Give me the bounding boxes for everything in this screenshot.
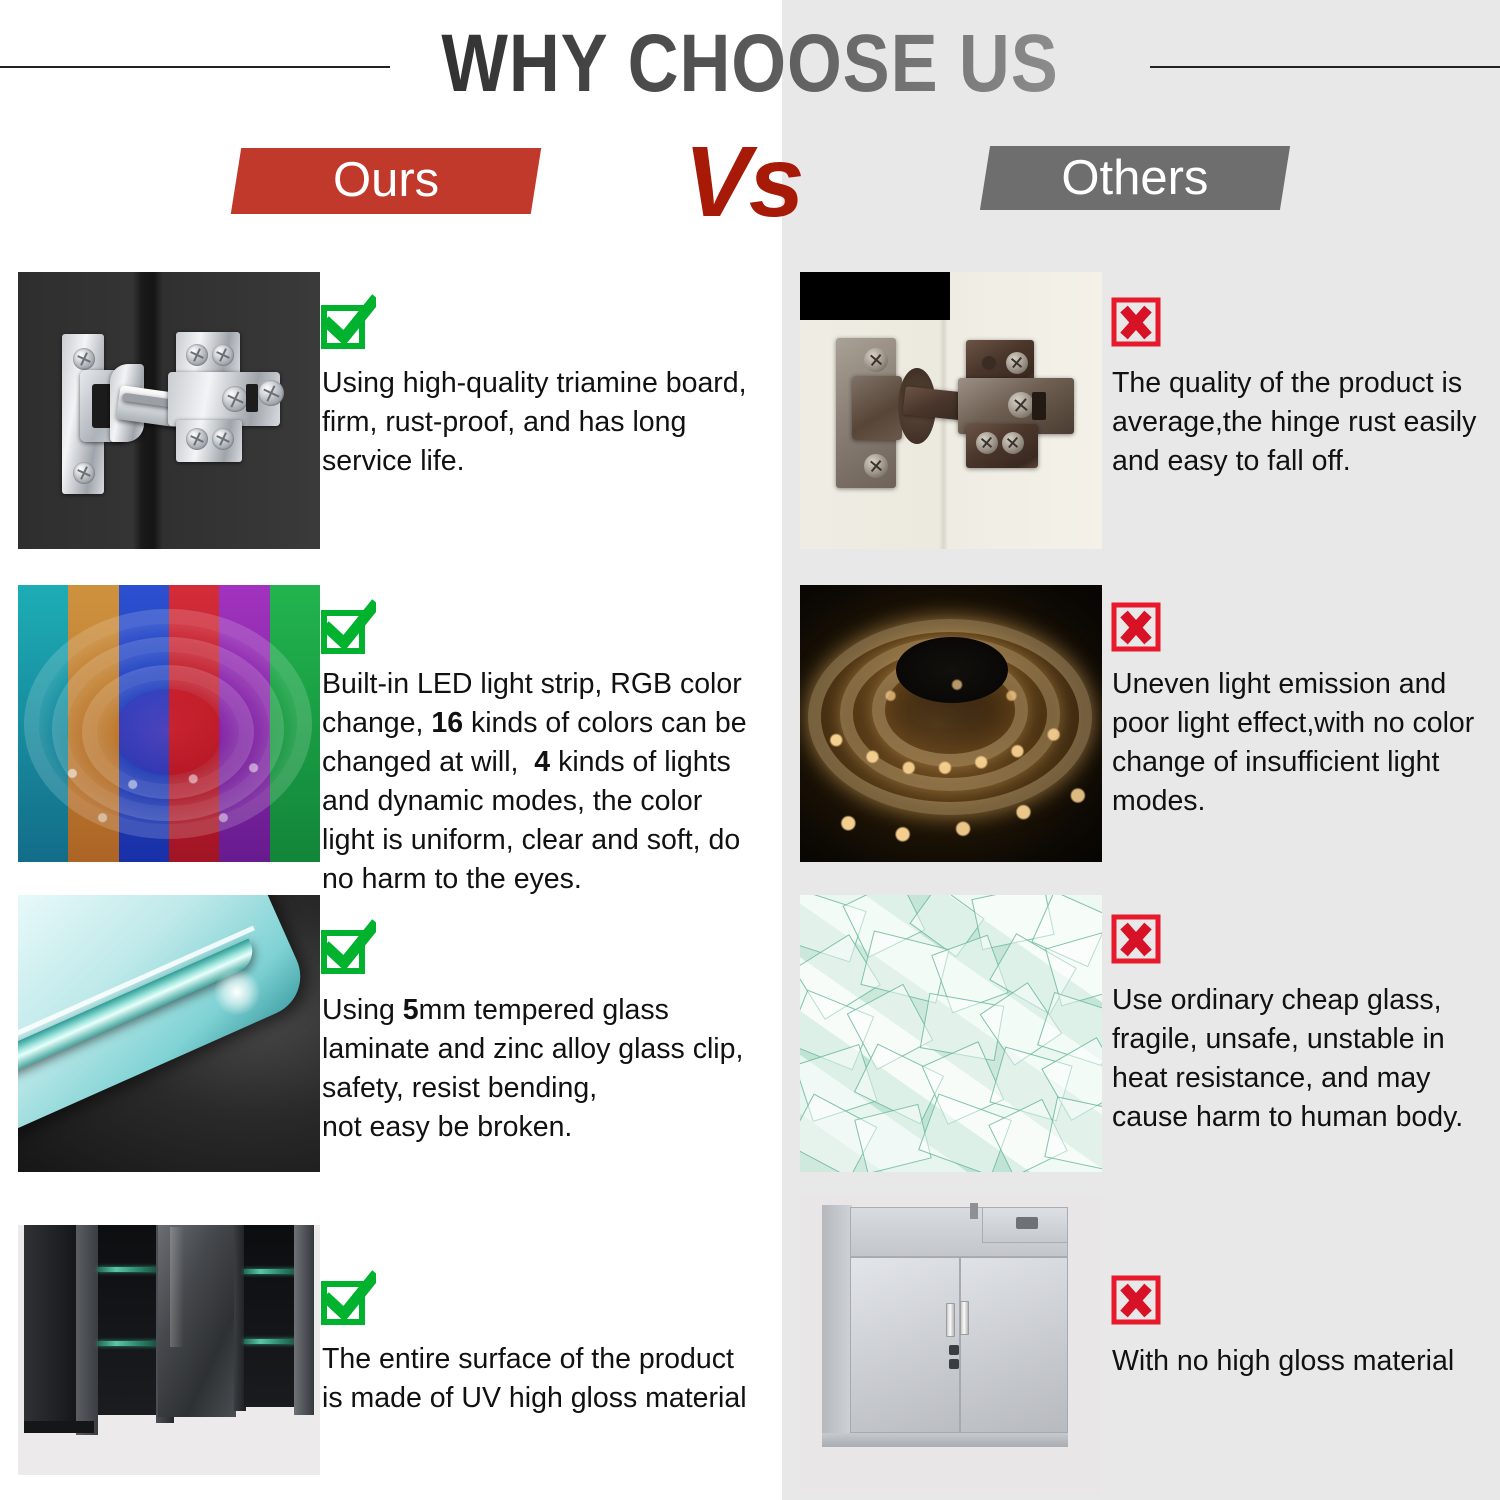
image-chrome-cabinet-hinge bbox=[18, 272, 320, 549]
image-rusty-cabinet-hinge bbox=[800, 272, 1102, 549]
cross-icon bbox=[1110, 294, 1166, 350]
ours-badge-label: Ours bbox=[236, 148, 536, 213]
image-dark-gloss-cabinet bbox=[18, 1225, 320, 1475]
image-rgb-led-strip bbox=[18, 585, 320, 862]
image-plain-metal-cabinet bbox=[800, 1195, 1102, 1495]
image-tempered-glass-corner bbox=[18, 895, 320, 1172]
ours-badge: Ours bbox=[231, 148, 541, 214]
check-icon bbox=[320, 919, 376, 975]
row-4-ours-text: The entire surface of the product is mad… bbox=[322, 1340, 750, 1418]
cross-icon bbox=[1110, 599, 1166, 655]
cross-icon bbox=[1110, 911, 1166, 967]
check-icon bbox=[320, 294, 376, 350]
comparison-row-2: Built-in LED light strip, RGB color chan… bbox=[0, 585, 1500, 880]
comparison-row-1: Using high-quality triamine board, firm,… bbox=[0, 272, 1500, 572]
image-warm-white-led-strip bbox=[800, 585, 1102, 862]
row-2-others-text: Uneven light emission and poor light eff… bbox=[1112, 665, 1500, 821]
row-3-ours-text: Using 5mm tempered glass laminate and zi… bbox=[322, 991, 750, 1147]
page-title: WHY CHOOSE US bbox=[105, 14, 1395, 114]
comparison-row-4: The entire surface of the product is mad… bbox=[0, 1210, 1500, 1490]
check-icon bbox=[320, 599, 376, 655]
row-1-others-text: The quality of the product is average,th… bbox=[1112, 364, 1500, 481]
row-4-others-text: With no high gloss material bbox=[1112, 1342, 1500, 1381]
others-badge: Others bbox=[980, 146, 1290, 210]
check-icon bbox=[320, 1270, 376, 1326]
comparison-row-3: Using 5mm tempered glass laminate and zi… bbox=[0, 895, 1500, 1195]
header: WHY CHOOSE US bbox=[0, 0, 1500, 130]
image-broken-glass-shards bbox=[800, 895, 1102, 1172]
others-badge-label: Others bbox=[985, 146, 1285, 211]
row-2-ours-text: Built-in LED light strip, RGB color chan… bbox=[322, 665, 750, 899]
row-3-others-text: Use ordinary cheap glass, fragile, unsaf… bbox=[1112, 981, 1488, 1137]
row-1-ours-text: Using high-quality triamine board, firm,… bbox=[322, 364, 747, 481]
vs-label: Vs bbox=[684, 132, 802, 232]
cross-icon bbox=[1110, 1272, 1166, 1328]
